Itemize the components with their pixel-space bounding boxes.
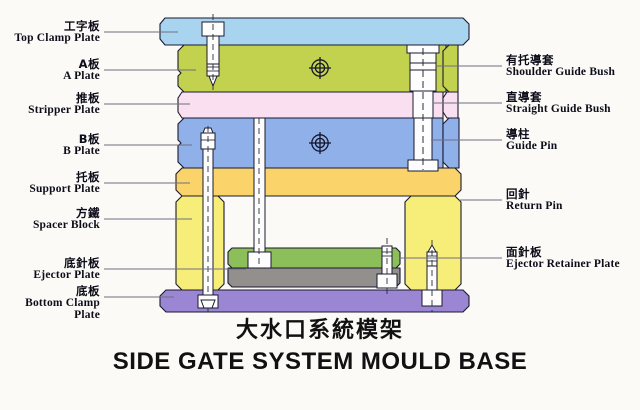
label-spacer-block-cn: 方鐵 [33,207,100,219]
ejector-sleeve-shank [254,118,265,252]
label-ejector-plate: 底針板 Ejector Plate [33,257,100,281]
bottom-left-bolt-taper [201,300,215,308]
plate-support [176,168,461,196]
label-stripper-plate-en: Stripper Plate [28,104,100,116]
spacer-bolt-shank [427,266,437,290]
label-b-plate: B板 B Plate [63,133,100,157]
mould-base-diagram-page: 工字板 Top Clamp Plate A板 A Plate 推板 Stripp… [0,0,640,410]
label-stripper-plate: 推板 Stripper Plate [28,92,100,116]
label-spacer-block: 方鐵 Spacer Block [33,207,100,231]
ejector-sleeve-collar [248,252,271,268]
label-ejector-retainer-plate: 面針板 Ejector Retainer Plate [506,246,620,270]
label-support-plate: 托板 Support Plate [29,171,100,195]
label-ejector-retainer-plate-cn: 面針板 [506,246,620,258]
label-top-clamp-plate-cn: 工字板 [14,20,100,32]
label-a-plate-en: A Plate [63,70,100,82]
plate-stripper-right-block [443,92,458,118]
spacer-block-left [176,196,224,290]
label-stripper-plate-cn: 推板 [28,92,100,104]
label-b-plate-cn: B板 [63,133,100,145]
label-bottom-clamp-plate-cn: 底板 [0,285,100,297]
label-shoulder-guide-bush-cn: 有托導套 [506,54,615,66]
diagram-title-en: SIDE GATE SYSTEM MOULD BASE [0,348,640,376]
label-shoulder-guide-bush: 有托導套 Shoulder Guide Bush [506,54,615,78]
label-return-pin-cn: 回針 [506,188,563,200]
label-guide-pin: 導柱 Guide Pin [506,128,557,152]
label-return-pin-en: Return Pin [506,200,563,212]
label-ejector-plate-cn: 底針板 [33,257,100,269]
label-guide-pin-en: Guide Pin [506,140,557,152]
plate-stripper [178,92,443,118]
plate-ejector [228,268,400,287]
label-ejector-retainer-plate-en: Ejector Retainer Plate [506,258,620,270]
label-guide-pin-cn: 導柱 [506,128,557,140]
label-straight-guide-bush-cn: 直導套 [506,91,611,103]
label-ejector-plate-en: Ejector Plate [33,269,100,281]
diagram-title: 大水口系統模架 SIDE GATE SYSTEM MOULD BASE [0,312,640,376]
label-support-plate-cn: 托板 [29,171,100,183]
label-a-plate-cn: A板 [63,58,100,70]
label-return-pin: 回針 Return Pin [506,188,563,212]
diagram-title-cn: 大水口系統模架 [0,312,640,344]
label-spacer-block-en: Spacer Block [33,219,100,231]
plate-b-right-block [443,118,459,168]
label-support-plate-en: Support Plate [29,183,100,195]
label-shoulder-guide-bush-en: Shoulder Guide Bush [506,66,615,78]
label-straight-guide-bush-en: Straight Guide Bush [506,103,611,115]
label-a-plate: A板 A Plate [63,58,100,82]
plate-a-right-block [443,45,458,92]
label-b-plate-en: B Plate [63,145,100,157]
label-top-clamp-plate: 工字板 Top Clamp Plate [14,20,100,44]
label-straight-guide-bush: 直導套 Straight Guide Bush [506,91,611,115]
label-top-clamp-plate-en: Top Clamp Plate [14,32,100,44]
